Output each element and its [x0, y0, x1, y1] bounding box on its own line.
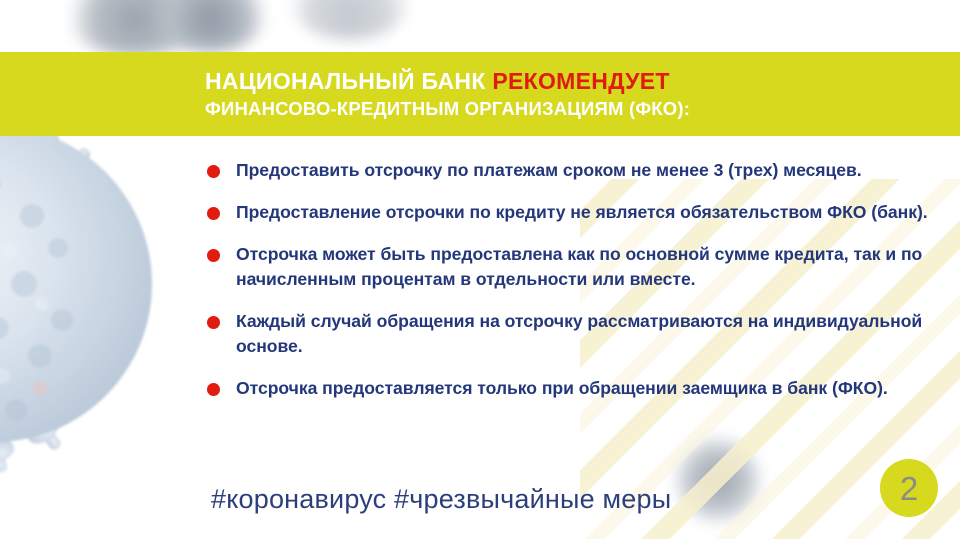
header-subtitle: ФИНАНСОВО-КРЕДИТНЫМ ОРГАНИЗАЦИЯМ (ФКО): — [205, 97, 960, 121]
list-item: Предоставление отсрочки по кредиту не яв… — [207, 200, 947, 225]
header-title-line1: НАЦИОНАЛЬНЫЙ БАНК РЕКОМЕНДУЕТ — [205, 67, 960, 95]
list-item-text: Отсрочка может быть предоставлена как по… — [236, 244, 922, 289]
virus-particle-blur-icon — [150, 0, 270, 52]
header-text-block: НАЦИОНАЛЬНЫЙ БАНК РЕКОМЕНДУЕТ ФИНАНСОВО-… — [0, 52, 960, 136]
bullet-dot-icon — [207, 383, 220, 396]
bullet-dot-icon — [207, 316, 220, 329]
list-item-text: Предоставление отсрочки по кредиту не яв… — [236, 202, 928, 222]
coronavirus-illustration — [0, 88, 182, 488]
page-number-text: 2 — [900, 472, 918, 505]
page-number-badge: 2 — [880, 459, 938, 517]
list-item-text: Каждый случай обращения на отсрочку расс… — [236, 311, 922, 356]
header-band: НАЦИОНАЛЬНЫЙ БАНК РЕКОМЕНДУЕТ ФИНАНСОВО-… — [0, 52, 960, 136]
recommendations-list: Предоставить отсрочку по платежам сроком… — [207, 158, 947, 418]
list-item: Предоставить отсрочку по платежам сроком… — [207, 158, 947, 183]
virus-particle-blur-icon — [670, 432, 766, 528]
list-item: Каждый случай обращения на отсрочку расс… — [207, 309, 947, 359]
virus-particle-blur-icon — [290, 0, 410, 40]
bullet-dot-icon — [207, 249, 220, 262]
list-item: Отсрочка предоставляется только при обра… — [207, 376, 947, 401]
virus-particle-blur-icon — [60, 0, 210, 56]
list-item-text: Предоставить отсрочку по платежам сроком… — [236, 160, 862, 180]
bullet-dot-icon — [207, 207, 220, 220]
list-item: Отсрочка может быть предоставлена как по… — [207, 242, 947, 292]
header-title-main: НАЦИОНАЛЬНЫЙ БАНК — [205, 68, 492, 94]
list-item-text: Отсрочка предоставляется только при обра… — [236, 378, 888, 398]
hashtags: #коронавирус #чрезвычайные меры — [211, 484, 671, 515]
slide: НАЦИОНАЛЬНЫЙ БАНК РЕКОМЕНДУЕТ ФИНАНСОВО-… — [0, 0, 960, 539]
header-title-accent: РЕКОМЕНДУЕТ — [492, 68, 669, 94]
bullet-dot-icon — [207, 165, 220, 178]
